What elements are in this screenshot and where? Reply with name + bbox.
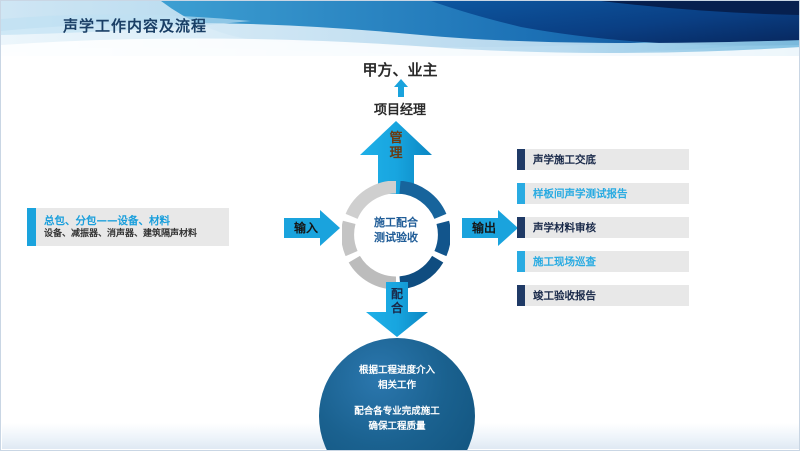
list-item[interactable]: 竣工验收报告 <box>517 285 689 306</box>
center-line-1: 施工配合 <box>342 215 450 230</box>
list-item[interactable]: 施工现场巡查 <box>517 251 689 272</box>
cooperate-line-1: 配 <box>364 287 430 301</box>
output-deliverables-list: 声学施工交底 样板间声学测试报告 声学材料审核 施工现场巡查 竣工验收报告 <box>517 149 689 305</box>
cooperate-arrow-label: 配 合 <box>364 287 430 315</box>
list-item-label: 样板间声学测试报告 <box>525 186 628 201</box>
list-item[interactable]: 声学施工交底 <box>517 149 689 170</box>
list-item-accent-bar <box>517 149 525 170</box>
bottom-line-4: 确保工程质量 <box>319 419 475 434</box>
list-item-label: 竣工验收报告 <box>525 288 596 303</box>
manage-line-2: 理 <box>358 146 434 161</box>
bottom-line-3: 配合各专业完成施工 <box>319 404 475 419</box>
project-manager-label: 项目经理 <box>1 99 799 118</box>
list-item-accent-bar <box>517 251 525 272</box>
list-item-accent-bar <box>517 217 525 238</box>
list-item-label: 声学施工交底 <box>525 152 596 167</box>
input-box-subtitle: 设备、减振器、消声器、建筑隔声材料 <box>44 228 197 241</box>
output-arrow-label: 输出 <box>462 210 506 246</box>
input-box-accent-bar <box>27 208 36 246</box>
arrow-up-icon <box>393 79 409 97</box>
input-arrow-label: 输入 <box>284 210 328 246</box>
list-item[interactable]: 声学材料审核 <box>517 217 689 238</box>
bottom-line-2: 相关工作 <box>319 378 475 393</box>
cooperate-line-2: 合 <box>364 301 430 315</box>
page-title: 声学工作内容及流程 <box>63 15 207 36</box>
list-item-label: 施工现场巡查 <box>525 254 596 269</box>
list-item-label: 声学材料审核 <box>525 220 596 235</box>
center-process-label: 施工配合 测试验收 <box>342 215 450 245</box>
manage-line-1: 管 <box>358 131 434 146</box>
input-box-body: 总包、分包——设备、材料 设备、减振器、消声器、建筑隔声材料 <box>36 214 197 241</box>
text-spacer <box>319 393 475 404</box>
list-item-accent-bar <box>517 183 525 204</box>
client-owner-label: 甲方、业主 <box>1 59 799 80</box>
slide-canvas: 声学工作内容及流程 甲方、业主 项目经理 管 理 <box>0 0 800 451</box>
list-item-accent-bar <box>517 285 525 306</box>
input-box-title: 总包、分包——设备、材料 <box>44 214 197 228</box>
bottom-line-1: 根据工程进度介入 <box>319 363 475 378</box>
input-source-box: 总包、分包——设备、材料 设备、减振器、消声器、建筑隔声材料 <box>27 208 229 246</box>
list-item[interactable]: 样板间声学测试报告 <box>517 183 689 204</box>
center-line-2: 测试验收 <box>342 230 450 245</box>
slide-header: 声学工作内容及流程 <box>1 1 800 56</box>
site-cooperation-text: 根据工程进度介入 相关工作 配合各专业完成施工 确保工程质量 <box>319 363 475 434</box>
manage-arrow-label: 管 理 <box>358 131 434 161</box>
